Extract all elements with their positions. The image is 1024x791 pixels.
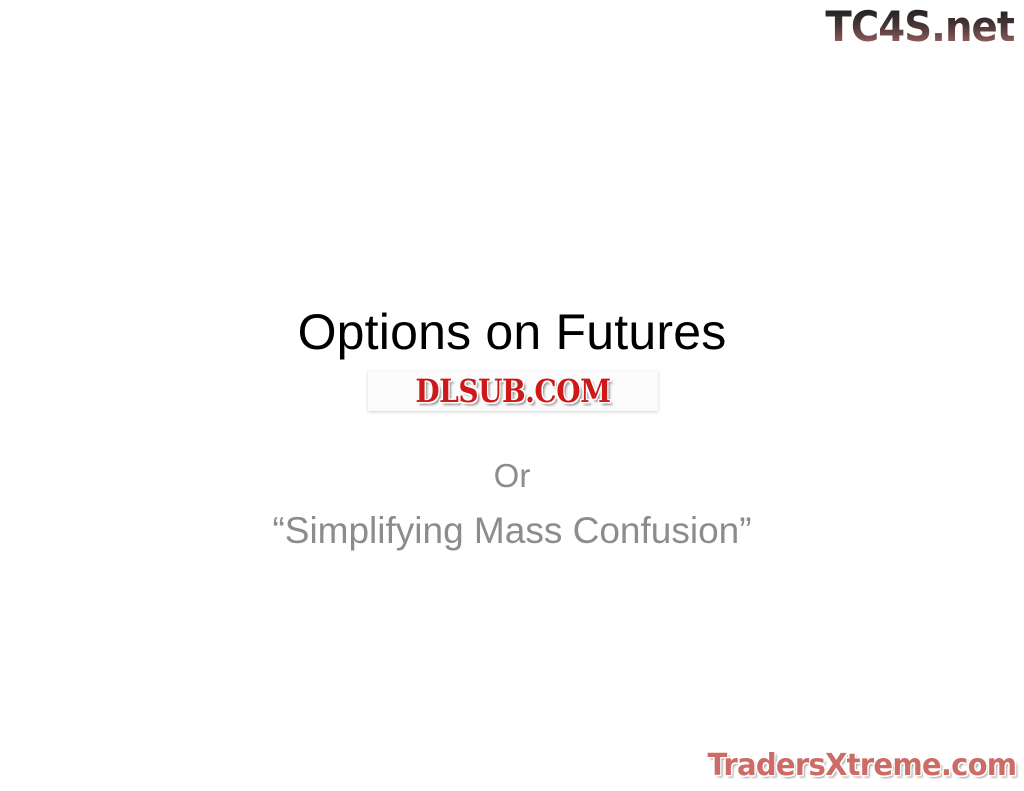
title-block: Options on Futures bbox=[0, 305, 1024, 359]
watermark-dlsub-logo: DLSUB.COM bbox=[368, 371, 658, 411]
subtitle-line-quote: “Simplifying Mass Confusion” bbox=[0, 508, 1024, 554]
watermark-tradersxtreme-logo: TradersXtreme.com bbox=[707, 748, 1016, 783]
subtitle-block: Or “Simplifying Mass Confusion” bbox=[0, 455, 1024, 555]
watermark-tc4s-logo: TC4S.net bbox=[825, 2, 1014, 51]
watermark-dlsub-text: DLSUB.COM bbox=[415, 373, 610, 410]
slide-title: Options on Futures bbox=[0, 305, 1024, 359]
presentation-slide: TC4S.net Options on Futures DLSUB.COM Or… bbox=[0, 0, 1024, 791]
subtitle-line-or: Or bbox=[0, 455, 1024, 496]
